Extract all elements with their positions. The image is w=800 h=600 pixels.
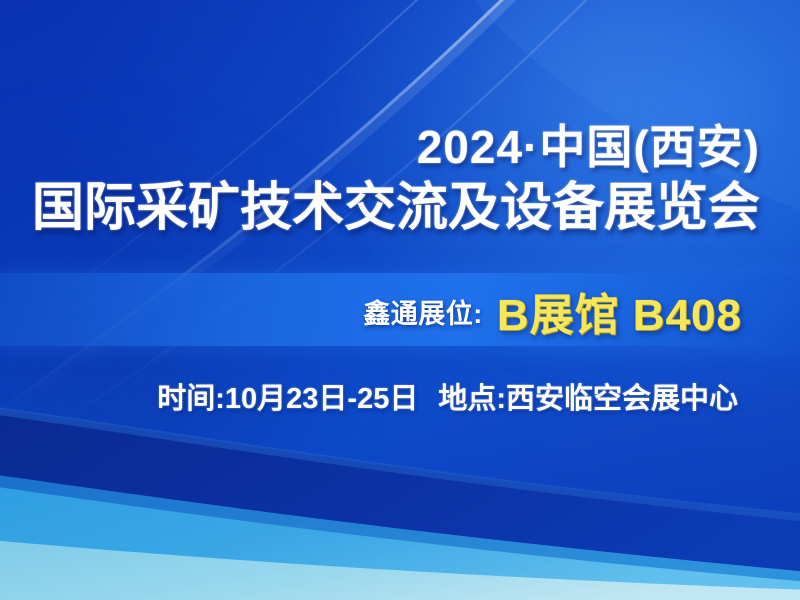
booth-info-row: 鑫通展位: B展馆 B408 xyxy=(0,284,742,338)
event-venue: 地点:西安临空会展中心 xyxy=(438,375,738,417)
booth-label: 鑫通展位: xyxy=(363,292,483,331)
event-meta-row: 时间:10月23日-25日 地点:西安临空会展中心 xyxy=(0,376,738,416)
title-line-event-name: 国际采矿技术交流及设备展览会 xyxy=(0,176,760,240)
title-line-year-city: 2024·中国(西安) xyxy=(0,118,760,176)
poster-title: 2024·中国(西安) 国际采矿技术交流及设备展览会 xyxy=(0,118,760,240)
event-date: 时间:10月23日-25日 xyxy=(157,375,418,417)
poster-canvas: 2024·中国(西安) 国际采矿技术交流及设备展览会 鑫通展位: B展馆 B40… xyxy=(0,0,800,600)
booth-number: B展馆 B408 xyxy=(497,279,742,343)
poster-text-layer: 2024·中国(西安) 国际采矿技术交流及设备展览会 鑫通展位: B展馆 B40… xyxy=(0,0,800,600)
